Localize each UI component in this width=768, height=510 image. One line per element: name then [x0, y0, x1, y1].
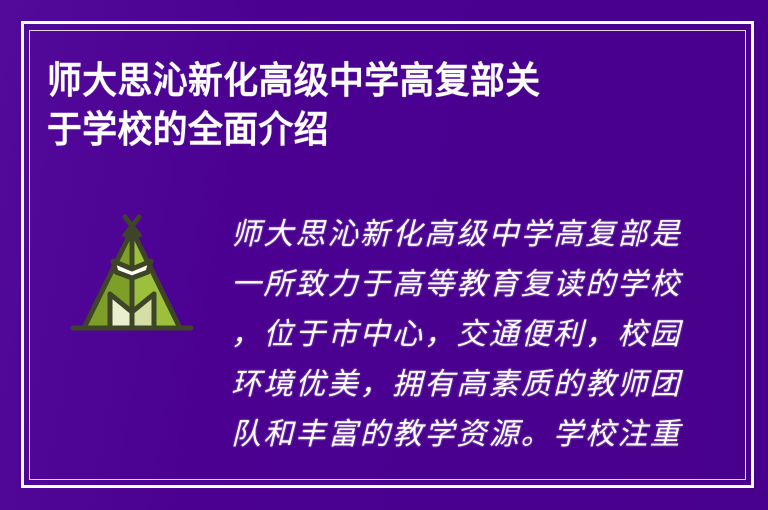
body-line-4: 环境优美，拥有高素质的教师团 [231, 360, 655, 410]
title-line-2: 于学校的全面介绍 [47, 105, 611, 154]
page-title: 师大思沁新化高级中学高复部关 于学校的全面介绍 [47, 56, 647, 154]
body-line-5: 队和丰富的教学资源。学校注重 [231, 410, 655, 460]
body-text: 师大思沁新化高级中学高复部是 一所致力于高等教育复读的学校 ，位于市中心，交通便… [231, 210, 655, 460]
body-line-1: 师大思沁新化高级中学高复部是 [231, 210, 655, 260]
body-line-3: ，位于市中心，交通便利，校园 [231, 310, 655, 360]
tent-icon [62, 208, 202, 344]
title-line-1: 师大思沁新化高级中学高复部关 [47, 56, 611, 105]
poster-canvas: 师大思沁新化高级中学高复部关 于学校的全面介绍 [0, 0, 768, 510]
body-line-2: 一所致力于高等教育复读的学校 [231, 260, 655, 310]
